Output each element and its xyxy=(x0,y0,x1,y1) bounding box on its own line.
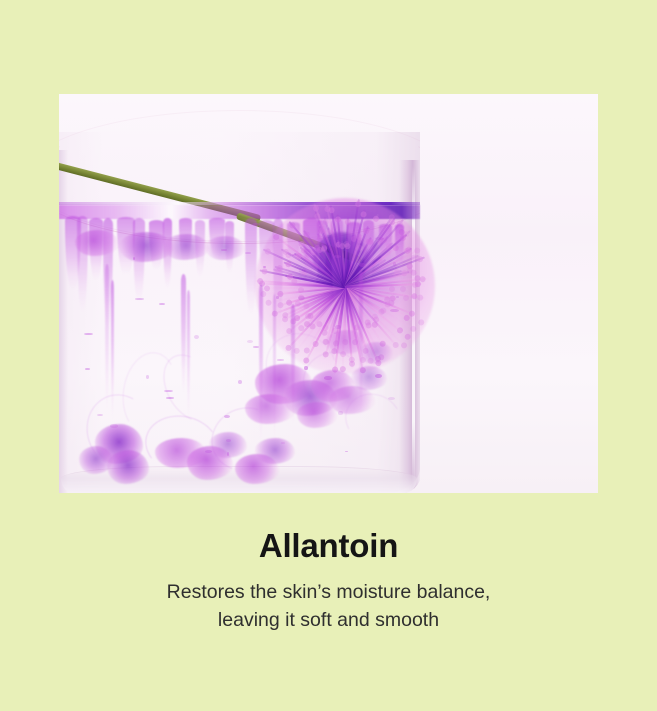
caption-block: Allantoin Restores the skin’s moisture b… xyxy=(0,528,657,634)
page-title: Allantoin xyxy=(0,528,657,565)
ingredient-card: Allantoin Restores the skin’s moisture b… xyxy=(0,0,657,711)
ingredient-description: Restores the skin’s moisture balance, le… xyxy=(164,579,494,634)
ink-plumes xyxy=(59,94,598,493)
photo-stage xyxy=(59,94,598,493)
ingredient-photo xyxy=(59,94,598,493)
